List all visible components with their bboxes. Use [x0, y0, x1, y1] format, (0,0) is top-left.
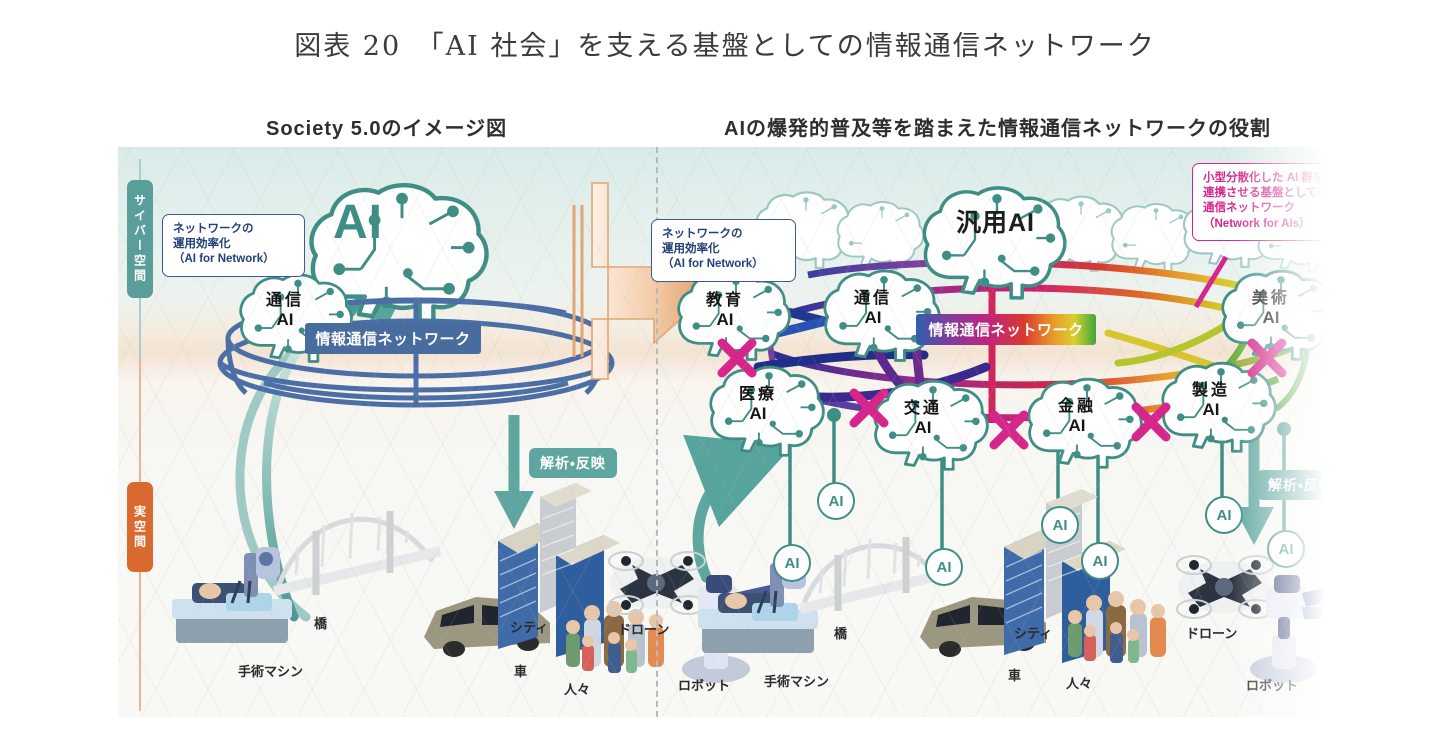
figure-title: 図表 20 「AI 社会」を支える基盤としての情報通信ネットワーク: [0, 24, 1450, 63]
brain-node-bijutsu: 美術 AI: [1252, 291, 1290, 326]
brain-node-seizo: 製造 AI: [1192, 383, 1230, 418]
brain-node-jp: 通信: [854, 291, 892, 307]
object-label-drone-right: ドローン: [1186, 623, 1237, 642]
brain-node-jp: 医療: [739, 387, 777, 403]
brain-node-tsushin-right: 通信 AI: [854, 291, 892, 326]
object-label-car-right: 車: [1008, 665, 1021, 684]
brain-node-ai: AI: [706, 311, 744, 328]
object-surgery-left: [172, 547, 292, 643]
analyze-badge-right: 解析・反映: [1257, 470, 1340, 500]
brain-node-jp: 製造: [1192, 383, 1230, 399]
brain-node-ai: AI: [266, 311, 304, 328]
brain-node-ai: AI: [1058, 417, 1096, 434]
object-label-city-left: シティ: [510, 617, 548, 636]
ai-chip-people: AI: [1081, 542, 1119, 580]
object-drone-right: [1177, 556, 1273, 618]
ai-chip-bridge: AI: [817, 482, 855, 520]
network-band-right: 情報通信ネットワーク: [916, 314, 1096, 345]
object-label-people-right: 人々: [1066, 673, 1092, 692]
callout-pink-line-3: 通信ネットワーク: [1203, 201, 1340, 216]
brain-node-jp: 教育: [706, 293, 744, 309]
callout-line-1: ネットワークの: [173, 222, 295, 237]
analyze-badge-left: 解析・反映: [529, 448, 617, 478]
brain-node-ai: AI: [904, 419, 942, 436]
panel-heading-left: Society 5.0のイメージ図: [266, 112, 507, 141]
brain-node-jp: 美術: [1252, 291, 1290, 307]
brain-node-iryo: 医療 AI: [739, 387, 777, 422]
brain-node-kotsu: 交通 AI: [904, 401, 942, 436]
panel-heading-right: AIの爆発的普及等を踏まえた情報通信ネットワークの役割: [724, 112, 1271, 141]
object-label-bridge-right: 橋: [834, 623, 847, 642]
object-label-car-left: 車: [514, 661, 527, 680]
object-label-surgery-right: 手術マシン: [764, 671, 829, 690]
object-label-city-right: シティ: [1014, 623, 1052, 642]
network-band-left: 情報通信ネットワーク: [305, 323, 481, 354]
brain-node-jp: 交通: [904, 401, 942, 417]
callout-line-1: ネットワークの: [662, 227, 786, 242]
ai-chip-city: AI: [1041, 506, 1079, 544]
main-brain-label-hanyo-ai: 汎用AI: [956, 203, 1035, 239]
ai-chip-drone: AI: [1205, 496, 1243, 534]
callout-pink-line-1: 小型分散化した AI 群を支え: [1203, 171, 1340, 186]
callout-line-3: （AI for Network）: [662, 257, 786, 272]
brain-node-jp: 金融: [1058, 399, 1096, 415]
callout-pink-line-2: 連携させる基盤としての情報: [1203, 186, 1340, 201]
brain-node-kinyu: 金融 AI: [1058, 399, 1096, 434]
callout-line-3: （AI for Network）: [173, 252, 295, 267]
brain-node-kyoiku: 教育 AI: [706, 293, 744, 328]
object-bridge-left: [274, 511, 440, 595]
real-space-tab: 実空間: [127, 482, 153, 572]
brain-node-tsushin-left: 通信 AI: [266, 293, 304, 328]
ai-chip-car: AI: [925, 548, 963, 586]
object-label-surgery-left: 手術マシン: [238, 661, 303, 680]
object-label-people-left: 人々: [564, 679, 590, 698]
callout-line-2: 運用効率化: [662, 242, 786, 257]
callout-network-for-ais: 小型分散化した AI 群を支え 連携させる基盤としての情報 通信ネットワーク （…: [1192, 163, 1340, 241]
brain-node-ai: AI: [1252, 309, 1290, 326]
object-label-robot-left: ロボット: [678, 675, 730, 694]
cyber-space-tab: サイバー空間: [127, 180, 153, 298]
callout-pink-line-4: （Network for AIs）: [1203, 217, 1340, 232]
brain-node-ai: AI: [854, 309, 892, 326]
ai-chip-surgery: AI: [773, 544, 811, 582]
brain-node-ai: AI: [739, 405, 777, 422]
brain-node-ai: AI: [1192, 401, 1230, 418]
brain-node-jp: 通信: [266, 293, 304, 309]
callout-ai-for-network-right: ネットワークの 運用効率化 （AI for Network）: [651, 219, 796, 282]
figure-canvas: サイバー空間 実空間: [118, 147, 1340, 717]
ai-chip-robot: AI: [1267, 530, 1305, 568]
main-ai-brain-label: AI: [333, 195, 383, 250]
object-label-drone-left: ドローン: [618, 619, 669, 638]
callout-line-2: 運用効率化: [173, 237, 295, 252]
object-label-bridge-left: 橋: [314, 613, 327, 632]
callout-ai-for-network-left: ネットワークの 運用効率化 （AI for Network）: [162, 214, 305, 277]
object-label-robot-right: ロボット: [1246, 675, 1298, 694]
object-illustrations: [172, 483, 1340, 683]
